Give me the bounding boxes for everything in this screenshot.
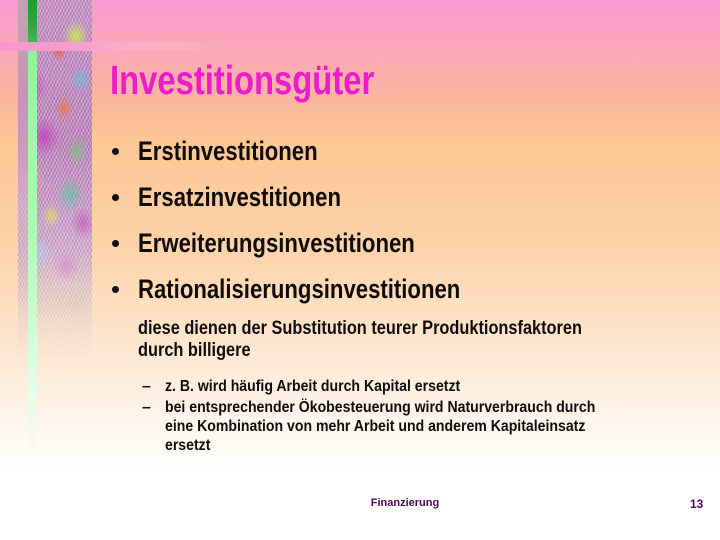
dash-text-line: eine Kombination von mehr Arbeit und and… — [165, 417, 671, 436]
dash-marker-icon: – — [142, 377, 151, 396]
list-item: Erstinvestitionen — [108, 136, 708, 182]
footer-label: Finanzierung — [0, 497, 720, 509]
page-title: Investitionsgüter — [110, 58, 374, 102]
bullet-dot-icon — [112, 148, 119, 155]
pink-accent-bar — [0, 42, 215, 51]
bullet-label: Erstinvestitionen — [138, 136, 318, 166]
sub-paragraph: diese dienen der Substitution teurer Pro… — [138, 318, 720, 362]
dash-text-line: ersetzt — [165, 436, 671, 455]
bullet-dot-icon — [112, 240, 119, 247]
list-item: Erweiterungsinvestitionen — [108, 228, 708, 274]
dash-text-line: z. B. wird häufig Arbeit durch Kapital e… — [165, 377, 671, 396]
bullet-label: Erweiterungsinvestitionen — [138, 228, 415, 258]
dash-marker-icon: – — [142, 398, 151, 417]
dash-text: z. B. wird häufig Arbeit durch Kapital e… — [165, 377, 720, 396]
list-item: Ersatzinvestitionen — [108, 182, 708, 228]
list-item: – z. B. wird häufig Arbeit durch Kapital… — [140, 377, 720, 396]
list-item: – bei entsprechender Ökobesteuerung wird… — [140, 398, 720, 455]
dash-list: – z. B. wird häufig Arbeit durch Kapital… — [140, 377, 720, 457]
left-decorative-band — [18, 0, 92, 540]
sub-paragraph-line: diese dienen der Substitution teurer Pro… — [138, 318, 671, 340]
dash-text-line: bei entsprechender Ökobesteuerung wird N… — [165, 398, 671, 417]
bullet-label: Ersatzinvestitionen — [138, 182, 341, 212]
bullet-dot-icon — [112, 286, 119, 293]
list-item: Rationalisierungsinvestitionen — [108, 274, 708, 320]
slide-canvas: Investitionsgüter Erstinvestitionen Ersa… — [0, 0, 720, 540]
bullet-dot-icon — [112, 194, 119, 201]
dash-text: bei entsprechender Ökobesteuerung wird N… — [165, 398, 720, 455]
band-green-stripe — [28, 0, 37, 460]
bullet-label: Rationalisierungsinvestitionen — [138, 274, 460, 304]
sub-paragraph-line: durch billigere — [138, 340, 671, 362]
footer-page-number: 13 — [690, 497, 703, 511]
bullet-list: Erstinvestitionen Ersatzinvestitionen Er… — [108, 136, 708, 320]
